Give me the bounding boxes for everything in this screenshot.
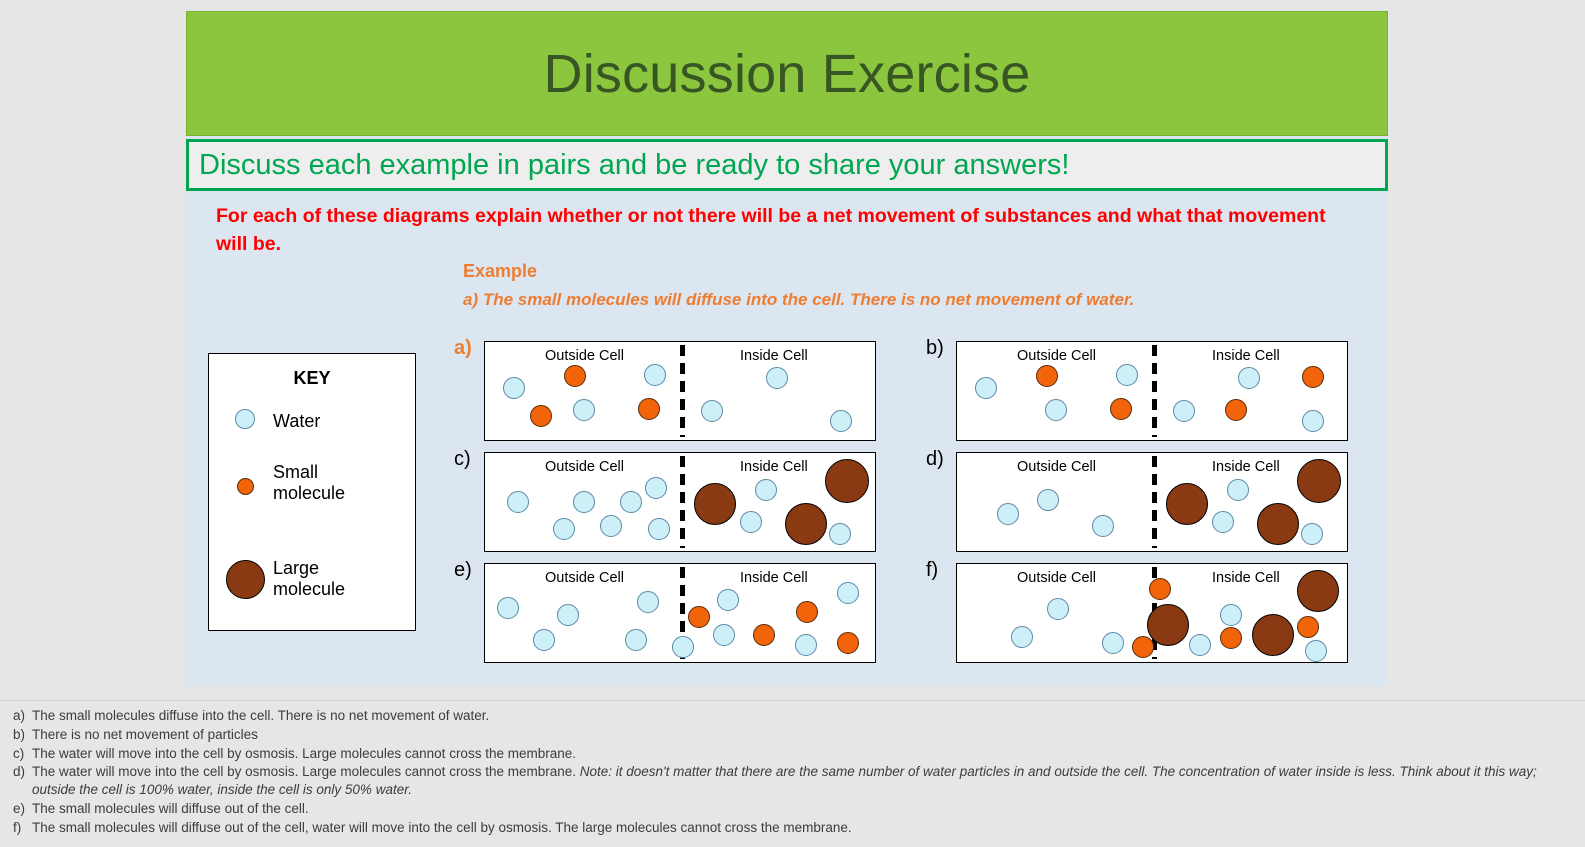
water-molecule-icon <box>740 511 762 533</box>
answer-row: b)There is no net movement of particles <box>8 726 1578 744</box>
water-molecule-icon <box>1173 400 1195 422</box>
answers-divider <box>0 700 1585 701</box>
inside-cell-label: Inside Cell <box>1212 570 1280 586</box>
small-molecule-icon <box>1225 399 1247 421</box>
water-molecule-icon <box>1220 604 1242 626</box>
large-molecule-icon <box>1147 604 1189 646</box>
answer-row: f)The small molecules will diffuse out o… <box>8 819 1578 837</box>
small-molecule-icon <box>837 632 859 654</box>
water-molecule-icon <box>1212 511 1234 533</box>
instruction-text: For each of these diagrams explain wheth… <box>216 203 1356 258</box>
water-molecule-icon <box>975 377 997 399</box>
cell-diagram-c: Outside CellInside Cell <box>484 452 876 552</box>
inside-cell-label: Inside Cell <box>740 459 808 475</box>
example-answer-text: a) The small molecules will diffuse into… <box>463 290 1134 310</box>
small-molecule-icon <box>688 606 710 628</box>
water-molecule-icon <box>1301 523 1323 545</box>
water-molecule-icon <box>717 589 739 611</box>
water-molecule-icon <box>829 523 851 545</box>
answer-letter: f) <box>8 819 32 837</box>
water-molecule-icon <box>1227 479 1249 501</box>
water-molecule-icon <box>553 518 575 540</box>
inside-cell-label: Inside Cell <box>1212 459 1280 475</box>
water-molecule-icon <box>795 634 817 656</box>
water-molecule-icon <box>648 518 670 540</box>
water-molecule-icon <box>1045 399 1067 421</box>
water-molecule-icon <box>637 591 659 613</box>
large-molecule-icon <box>1297 459 1341 503</box>
water-molecule-icon <box>1238 367 1260 389</box>
water-molecule-icon <box>1047 598 1069 620</box>
outside-cell-label: Outside Cell <box>545 570 624 586</box>
water-molecule-icon <box>557 604 579 626</box>
key-item-label: Small molecule <box>273 462 383 503</box>
cell-membrane-dashed-line <box>1152 345 1157 437</box>
small-molecule-icon <box>564 365 586 387</box>
small-molecule-icon <box>638 398 660 420</box>
small-molecule-icon <box>1220 627 1242 649</box>
water-molecule-icon <box>644 364 666 386</box>
small-molecule-icon <box>1297 616 1319 638</box>
key-item-large-molecule: Large molecule <box>217 552 383 604</box>
slide-page: Discussion Exercise Discuss each example… <box>0 0 1585 847</box>
answer-note: Note: it doesn't matter that there are t… <box>32 764 1537 797</box>
large-molecule-icon <box>825 459 869 503</box>
answer-letter: b) <box>8 726 32 744</box>
outside-cell-label: Outside Cell <box>545 459 624 475</box>
answer-letter: a) <box>8 707 32 725</box>
answer-letter: c) <box>8 745 32 763</box>
water-molecule-icon <box>701 400 723 422</box>
key-item-label: Water <box>273 411 320 432</box>
water-molecule-icon <box>713 624 735 646</box>
key-item-small-molecule: Small molecule <box>217 462 383 503</box>
large-molecule-circle-icon <box>217 552 273 604</box>
large-molecule-icon <box>1252 614 1294 656</box>
title-banner: Discussion Exercise <box>186 11 1388 136</box>
page-title: Discussion Exercise <box>544 47 1031 101</box>
answer-text: There is no net movement of particles <box>32 726 1578 744</box>
water-molecule-icon <box>1302 410 1324 432</box>
subtitle-text: Discuss each example in pairs and be rea… <box>199 151 1069 180</box>
large-molecule-icon <box>1297 570 1339 612</box>
answers-list: a)The small molecules diffuse into the c… <box>8 707 1578 838</box>
cell-diagram-a: Outside CellInside Cell <box>484 341 876 441</box>
small-molecule-icon <box>796 601 818 623</box>
small-molecule-circle-icon <box>217 462 273 500</box>
answer-text: The water will move into the cell by osm… <box>32 763 1578 799</box>
answer-row: d)The water will move into the cell by o… <box>8 763 1578 799</box>
cell-diagram-f: Outside CellInside Cell <box>956 563 1348 663</box>
outside-cell-label: Outside Cell <box>545 348 624 364</box>
water-molecule-icon <box>1305 640 1327 662</box>
water-molecule-icon <box>573 399 595 421</box>
small-molecule-icon <box>753 624 775 646</box>
water-molecule-icon <box>1011 626 1033 648</box>
outside-cell-label: Outside Cell <box>1017 459 1096 475</box>
water-molecule-icon <box>573 491 595 513</box>
subtitle-banner: Discuss each example in pairs and be rea… <box>186 139 1388 191</box>
example-label: Example <box>463 261 537 282</box>
large-molecule-icon <box>1257 503 1299 545</box>
small-molecule-icon <box>1110 398 1132 420</box>
water-molecule-icon <box>533 629 555 651</box>
water-molecule-icon <box>1116 364 1138 386</box>
small-molecule-icon <box>1132 636 1154 658</box>
large-molecule-icon <box>785 503 827 545</box>
water-molecule-icon <box>997 503 1019 525</box>
water-molecule-icon <box>600 515 622 537</box>
water-molecule-icon <box>672 636 694 658</box>
water-molecule-icon <box>1102 632 1124 654</box>
answer-text: The small molecules will diffuse out of … <box>32 819 1578 837</box>
cell-diagram-e: Outside CellInside Cell <box>484 563 876 663</box>
cell-membrane-dashed-line <box>1152 456 1157 548</box>
answer-text: The small molecules diffuse into the cel… <box>32 707 1578 725</box>
diagram-letter-d: d) <box>926 448 944 471</box>
water-molecule-icon <box>620 491 642 513</box>
cell-diagram-d: Outside CellInside Cell <box>956 452 1348 552</box>
water-molecule-icon <box>507 491 529 513</box>
answer-row: e)The small molecules will diffuse out o… <box>8 800 1578 818</box>
key-title: KEY <box>209 368 415 389</box>
small-molecule-icon <box>1302 366 1324 388</box>
answer-row: a)The small molecules diffuse into the c… <box>8 707 1578 725</box>
diagram-letter-f: f) <box>926 559 938 582</box>
water-molecule-icon <box>837 582 859 604</box>
water-molecule-icon <box>830 410 852 432</box>
outside-cell-label: Outside Cell <box>1017 570 1096 586</box>
answer-row: c)The water will move into the cell by o… <box>8 745 1578 763</box>
water-molecule-icon <box>503 377 525 399</box>
cell-membrane-dashed-line <box>680 345 685 437</box>
water-molecule-icon <box>766 367 788 389</box>
water-molecule-icon <box>755 479 777 501</box>
small-molecule-icon <box>1036 365 1058 387</box>
water-molecule-icon <box>645 477 667 499</box>
slide-panel: Discussion Exercise Discuss each example… <box>186 11 1388 686</box>
diagram-letter-a: a) <box>454 337 472 360</box>
diagram-letter-c: c) <box>454 448 471 471</box>
small-molecule-icon <box>530 405 552 427</box>
inside-cell-label: Inside Cell <box>740 570 808 586</box>
small-molecule-icon <box>1149 578 1171 600</box>
cell-membrane-dashed-line <box>680 456 685 548</box>
water-molecule-icon <box>1189 634 1211 656</box>
key-item-label: Large molecule <box>273 552 383 599</box>
answer-letter: d) <box>8 763 32 781</box>
large-molecule-icon <box>1166 483 1208 525</box>
water-molecule-icon <box>497 597 519 619</box>
diagram-letter-b: b) <box>926 337 944 360</box>
water-molecule-icon <box>1092 515 1114 537</box>
water-molecule-icon <box>1037 489 1059 511</box>
inside-cell-label: Inside Cell <box>740 348 808 364</box>
answer-text: The water will move into the cell by osm… <box>32 745 1578 763</box>
outside-cell-label: Outside Cell <box>1017 348 1096 364</box>
key-item-water: Water <box>217 409 320 434</box>
answer-text: The small molecules will diffuse out of … <box>32 800 1578 818</box>
large-molecule-icon <box>694 483 736 525</box>
inside-cell-label: Inside Cell <box>1212 348 1280 364</box>
key-legend-box: KEY Water Small molecule Large molecule <box>208 353 416 631</box>
answer-letter: e) <box>8 800 32 818</box>
water-molecule-icon <box>625 629 647 651</box>
water-circle-icon <box>217 409 273 434</box>
cell-diagram-b: Outside CellInside Cell <box>956 341 1348 441</box>
diagram-letter-e: e) <box>454 559 472 582</box>
